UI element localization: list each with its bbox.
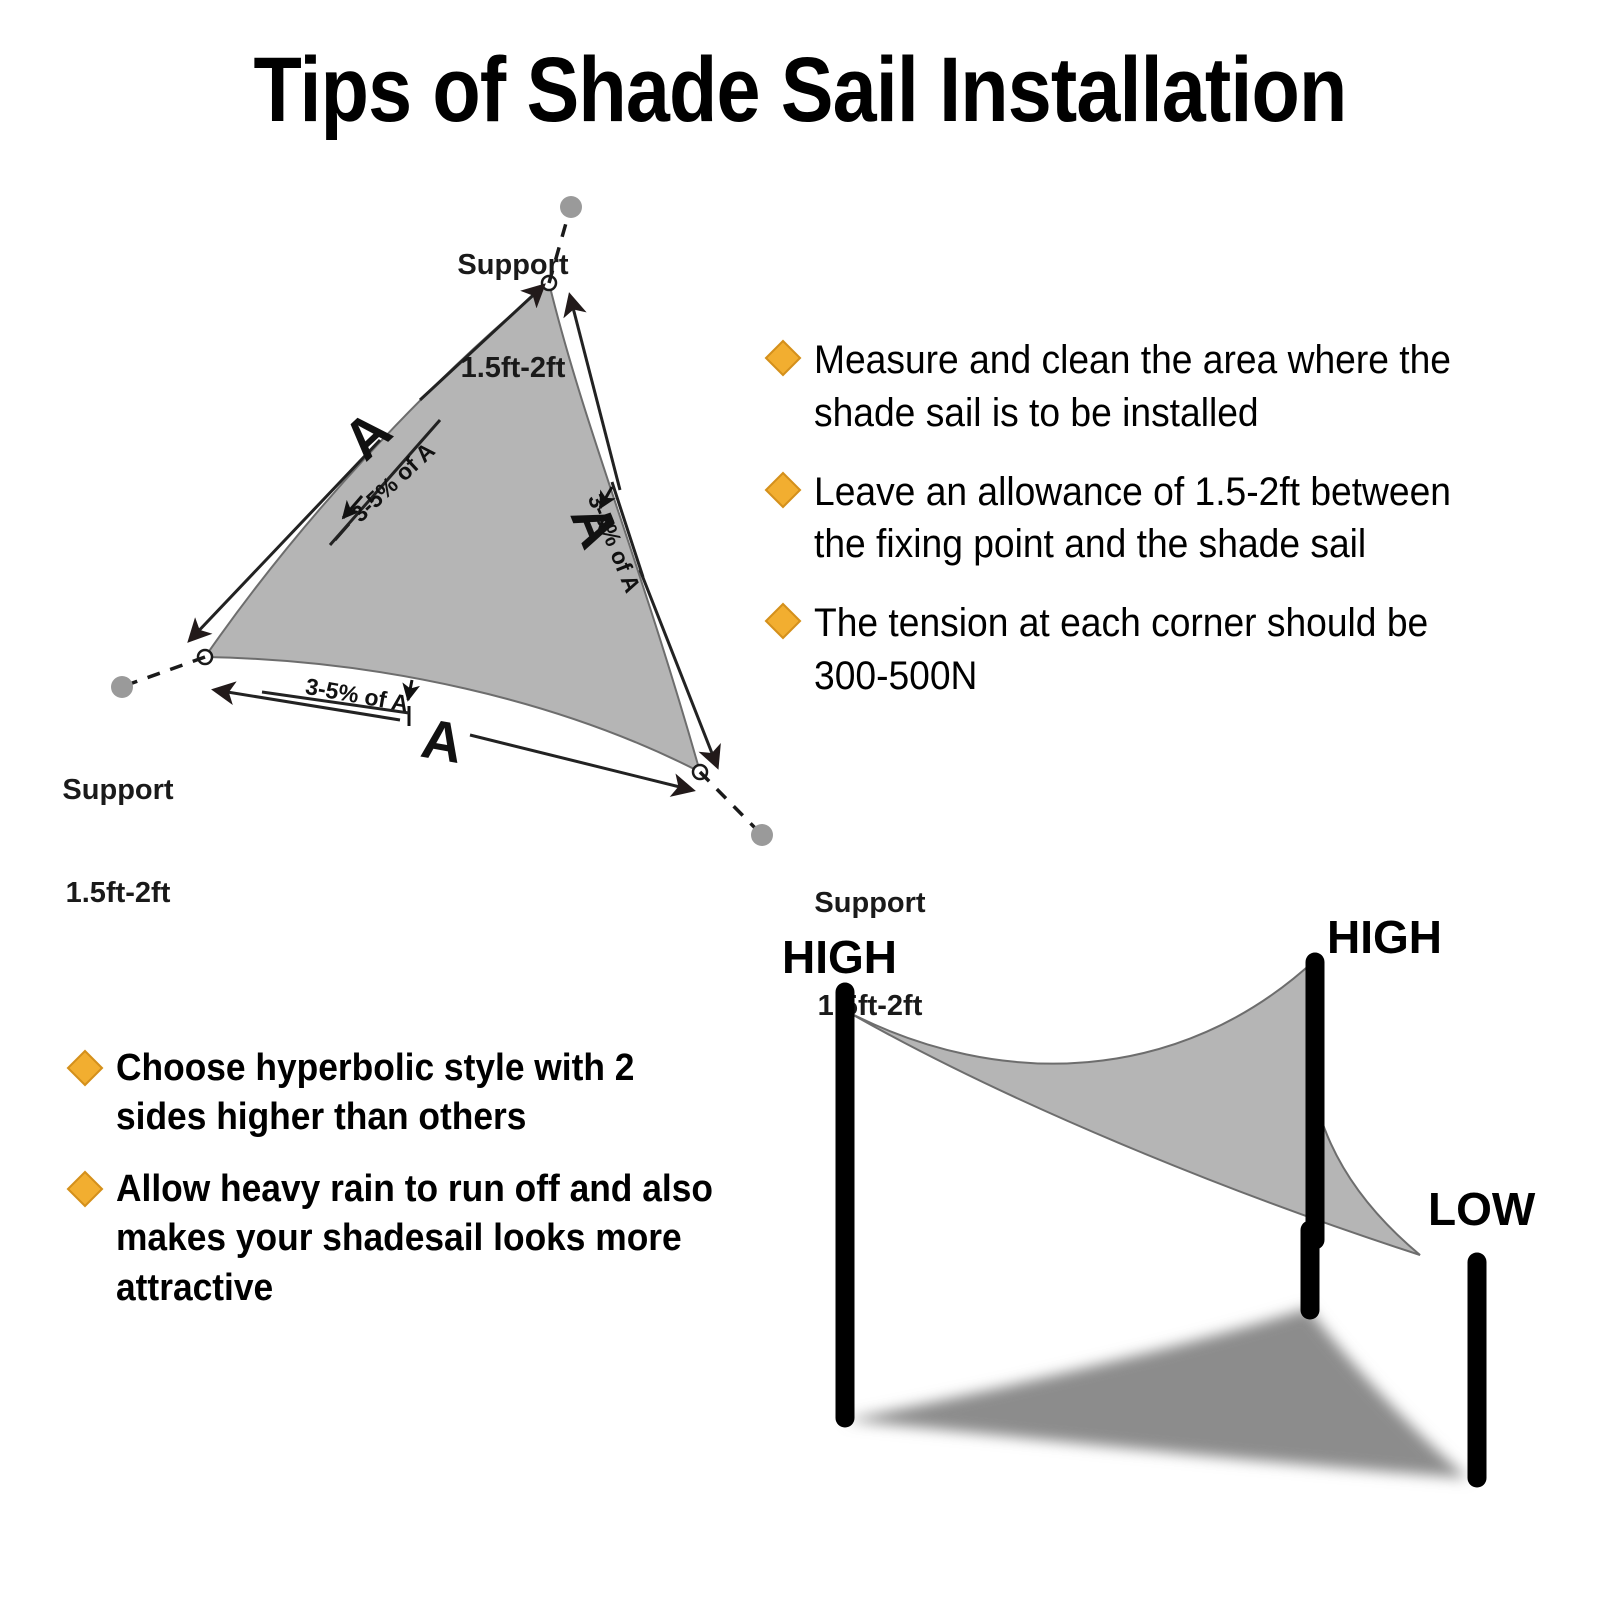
- support-label-top-line1: Support: [428, 248, 598, 282]
- diamond-bullet-icon: [765, 340, 802, 377]
- bullet-item: Choose hyperbolic style with 2 sides hig…: [72, 1044, 772, 1143]
- bullet-text: Measure and clean the area where the sha…: [814, 334, 1489, 440]
- post-label-high-right: HIGH: [1327, 910, 1442, 964]
- support-label-left-line2: 1.5ft-2ft: [28, 876, 208, 910]
- diamond-bullet-icon: [765, 603, 802, 640]
- sail-ground-shadow: [845, 1308, 1468, 1478]
- support-label-br-line1: Support: [780, 886, 960, 920]
- bullet-item: Allow heavy rain to run off and also mak…: [72, 1165, 772, 1313]
- support-label-top: Support 1.5ft-2ft: [428, 180, 598, 420]
- triangle-diagram-svg: [0, 0, 1600, 1600]
- bullet-list-right: Measure and clean the area where the sha…: [770, 334, 1540, 729]
- curve-label-bottom: 3-5% of A: [303, 673, 410, 718]
- bullet-item: Measure and clean the area where the sha…: [770, 334, 1540, 440]
- post-label-high-left: HIGH: [782, 930, 897, 984]
- curve-chord-lines: [262, 420, 643, 713]
- edge-label-a-bottom: A: [417, 705, 468, 776]
- bullet-text: Choose hyperbolic style with 2 sides hig…: [116, 1044, 726, 1143]
- bullet-text: Allow heavy rain to run off and also mak…: [116, 1165, 726, 1313]
- support-label-top-line2: 1.5ft-2ft: [428, 351, 598, 385]
- diamond-bullet-icon: [765, 471, 802, 508]
- edge-label-a-left: A: [330, 397, 404, 472]
- diamond-bullet-icon: [67, 1170, 104, 1207]
- bullet-item: Leave an allowance of 1.5-2ft between th…: [770, 466, 1540, 572]
- bullet-list-left: Choose hyperbolic style with 2 sides hig…: [72, 1044, 772, 1335]
- support-label-left: Support 1.5ft-2ft: [28, 705, 208, 945]
- support-label-br-line2: 1.5ft-2ft: [780, 989, 960, 1023]
- diamond-bullet-icon: [67, 1050, 104, 1087]
- hyperbolic-diagram-svg: [0, 0, 1600, 1600]
- page-title: Tips of Shade Sail Installation: [112, 44, 1488, 136]
- bullet-text: Leave an allowance of 1.5-2ft between th…: [814, 466, 1489, 572]
- bullet-text: The tension at each corner should be 300…: [814, 597, 1489, 703]
- bullet-item: The tension at each corner should be 300…: [770, 597, 1540, 703]
- post-label-low: LOW: [1428, 1182, 1535, 1236]
- support-label-left-line1: Support: [28, 773, 208, 807]
